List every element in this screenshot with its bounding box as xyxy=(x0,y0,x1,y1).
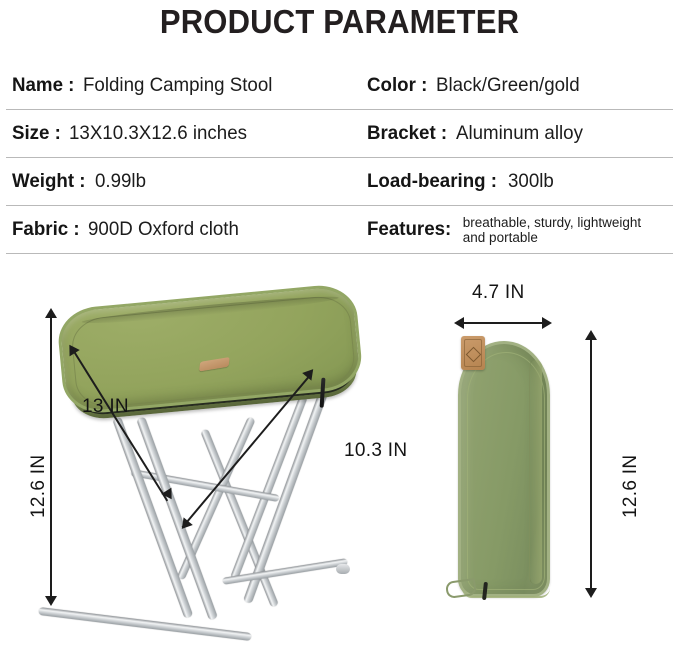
spec-value: 13X10.3X12.6 inches xyxy=(69,122,247,145)
arrow-up-icon xyxy=(45,308,57,318)
spec-value: 300lb xyxy=(508,170,554,193)
spec-cell-load-bearing: Load-bearing : 300lb xyxy=(363,158,673,205)
spec-cell-bracket: Bracket : Aluminum alloy xyxy=(363,110,673,157)
arrow-down-icon xyxy=(585,588,597,598)
spec-label: Weight : xyxy=(12,170,85,193)
spec-label: Name : xyxy=(12,74,74,97)
arrow-right-icon xyxy=(542,317,552,329)
spec-cell-features: Features: breathable, sturdy, lightweigh… xyxy=(363,206,673,253)
arrow-left-icon xyxy=(454,317,464,329)
bag-patch-border xyxy=(464,339,482,367)
spec-cell-color: Color : Black/Green/gold xyxy=(363,62,673,109)
spec-cell-fabric: Fabric : 900D Oxford cloth xyxy=(6,206,363,253)
spec-label: Size : xyxy=(12,122,61,145)
spec-label: Bracket : xyxy=(367,122,447,145)
stool-bottom-rail-left xyxy=(38,607,251,641)
table-row: Fabric : 900D Oxford cloth Features: bre… xyxy=(6,206,673,254)
spec-value: Folding Camping Stool xyxy=(83,74,272,97)
dimension-line-height xyxy=(50,316,52,604)
arrow-down-icon xyxy=(45,596,57,606)
bag-leather-logo-patch xyxy=(461,336,485,370)
bag-edge-highlight xyxy=(529,360,542,584)
page-title: PRODUCT PARAMETER xyxy=(20,2,658,42)
stool-illustration: 12.6 IN 13 IN 10.3 IN xyxy=(0,268,440,666)
table-row: Size : 13X10.3X12.6 inches Bracket : Alu… xyxy=(6,110,673,158)
spec-value: 0.99lb xyxy=(95,170,146,193)
dimension-label-width: 13 IN xyxy=(82,396,129,418)
table-row: Name : Folding Camping Stool Color : Bla… xyxy=(6,62,673,110)
bag-dimension-label-height: 12.6 IN xyxy=(620,455,642,518)
arrow-up-icon xyxy=(585,330,597,340)
spec-value: 900D Oxford cloth xyxy=(88,218,239,241)
spec-label: Load-bearing : xyxy=(367,170,497,193)
stool-foot-right xyxy=(336,564,350,574)
dimension-label-height: 12.6 IN xyxy=(28,455,50,518)
spec-value: breathable, sturdy, lightweight and port… xyxy=(463,215,663,245)
bag-dimension-line-height xyxy=(590,338,592,596)
table-row: Weight : 0.99lb Load-bearing : 300lb xyxy=(6,158,673,206)
carry-bag-illustration: 4.7 IN 12.6 IN xyxy=(430,268,679,666)
spec-cell-size: Size : 13X10.3X12.6 inches xyxy=(6,110,363,157)
spec-label: Color : xyxy=(367,74,427,97)
bag-dimension-line-width xyxy=(460,322,548,324)
product-figures: 12.6 IN 13 IN 10.3 IN 4.7 IN xyxy=(0,268,679,666)
bag-dimension-label-width: 4.7 IN xyxy=(472,282,525,304)
spec-label: Features: xyxy=(367,218,451,241)
spec-value: Aluminum alloy xyxy=(456,122,583,145)
product-parameter-infographic: PRODUCT PARAMETER Name : Folding Camping… xyxy=(0,0,679,666)
stool-seat xyxy=(56,282,369,460)
carry-bag-body xyxy=(458,341,550,597)
spec-label: Fabric : xyxy=(12,218,80,241)
spec-cell-weight: Weight : 0.99lb xyxy=(6,158,363,205)
dimension-label-depth: 10.3 IN xyxy=(344,440,407,462)
spec-value: Black/Green/gold xyxy=(436,74,580,97)
spec-table: Name : Folding Camping Stool Color : Bla… xyxy=(6,62,673,254)
spec-cell-name: Name : Folding Camping Stool xyxy=(6,62,363,109)
